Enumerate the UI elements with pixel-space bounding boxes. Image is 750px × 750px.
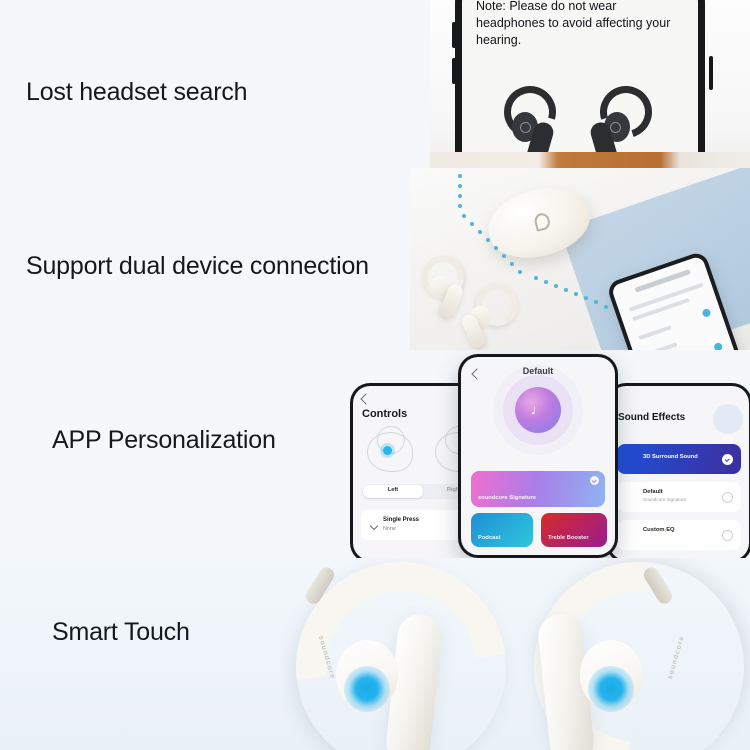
lost-headset-photo: Note: Please do not wear headphones to a… [430, 0, 750, 168]
device-status-dot-2 [713, 342, 723, 350]
eq-card-treble-booster[interactable]: Treble Booster [541, 513, 607, 547]
screen-sound-effects: Sound Effects 3D Surround Sound Default … [609, 386, 749, 558]
screen-title-default: Default [461, 366, 615, 376]
earbud-large-right: soundcore [492, 562, 692, 750]
phone-mockup-sound-effects: Sound Effects 3D Surround Sound Default … [606, 383, 750, 558]
desk-surface [430, 152, 750, 168]
section-dual-device: Support dual device connection [0, 168, 750, 350]
sound-effect-label: 3D Surround Sound [643, 454, 698, 460]
tab-left[interactable]: Left [363, 485, 423, 498]
earbud-large-left: soundcore [288, 562, 488, 750]
eq-orb-icon: ♩ [515, 387, 561, 433]
section-app-personalization: APP Personalization Controls Left Right [0, 350, 750, 558]
phone-note-text: Note: Please do not wear headphones to a… [476, 0, 688, 49]
sound-effect-label: Custom EQ [643, 527, 675, 533]
dual-device-photo [410, 168, 750, 350]
phone-mockup-default-eq: Default ♩ soundcore Signature Podcast Tr… [458, 354, 618, 558]
device-status-dot-1 [701, 308, 711, 318]
sound-effect-sublabel: Soundcore Signature [643, 497, 686, 502]
radio-icon[interactable] [722, 492, 733, 503]
radio-icon[interactable] [722, 530, 733, 541]
eq-card-soundcore-signature[interactable]: soundcore Signature [471, 471, 605, 507]
sound-effect-item-default[interactable]: Default Soundcore Signature [617, 482, 741, 512]
eq-card-podcast[interactable]: Podcast [471, 513, 533, 547]
screen-default-eq: Default ♩ soundcore Signature Podcast Tr… [461, 357, 615, 555]
screen-title-sound-effects: Sound Effects [618, 412, 685, 423]
smart-touch-photo: soundcore soundcore [280, 558, 750, 750]
music-note-watermark-icon [713, 404, 743, 434]
section-title-lost-headset-search: Lost headset search [26, 78, 247, 107]
card-selected-icon [590, 476, 599, 485]
touch-point-indicator [383, 446, 392, 455]
eq-card-label: soundcore Signature [478, 495, 536, 501]
phone-side-button-lower [452, 58, 456, 84]
app-phones-photo: Controls Left Right Single Press None [338, 350, 750, 558]
back-chevron-icon[interactable] [360, 393, 371, 404]
sound-effect-label: Default [643, 489, 663, 495]
eq-card-label: Podcast [478, 535, 501, 541]
section-lost-headset-search: Lost headset search Note: Please do not … [0, 0, 750, 168]
touch-indicator-left [344, 666, 390, 712]
phone-mockup-note: Note: Please do not wear headphones to a… [455, 0, 705, 168]
phone-power-button [709, 56, 713, 90]
control-row-value: None [383, 526, 396, 532]
section-title-smart-touch: Smart Touch [52, 618, 190, 647]
sound-effect-item-3d-surround[interactable]: 3D Surround Sound [617, 444, 741, 474]
eq-card-label: Treble Booster [548, 535, 589, 541]
screen-title-controls: Controls [362, 408, 407, 420]
sound-effect-item-custom-eq[interactable]: Custom EQ [617, 520, 741, 550]
feature-panel: Lost headset search Note: Please do not … [0, 0, 750, 750]
section-title-dual-device: Support dual device connection [26, 252, 369, 281]
selected-check-icon [722, 454, 733, 465]
phone-side-button-upper [452, 22, 456, 48]
soundcore-logo-icon [533, 211, 552, 231]
section-title-app-personalization: APP Personalization [52, 426, 276, 455]
control-row-title: Single Press [383, 517, 419, 523]
music-note-glyph: ♩ [531, 403, 546, 418]
control-row-chevron-icon [370, 522, 378, 530]
section-smart-touch: Smart Touch soundcore soundcore [0, 558, 750, 750]
touch-indicator-right [588, 666, 634, 712]
